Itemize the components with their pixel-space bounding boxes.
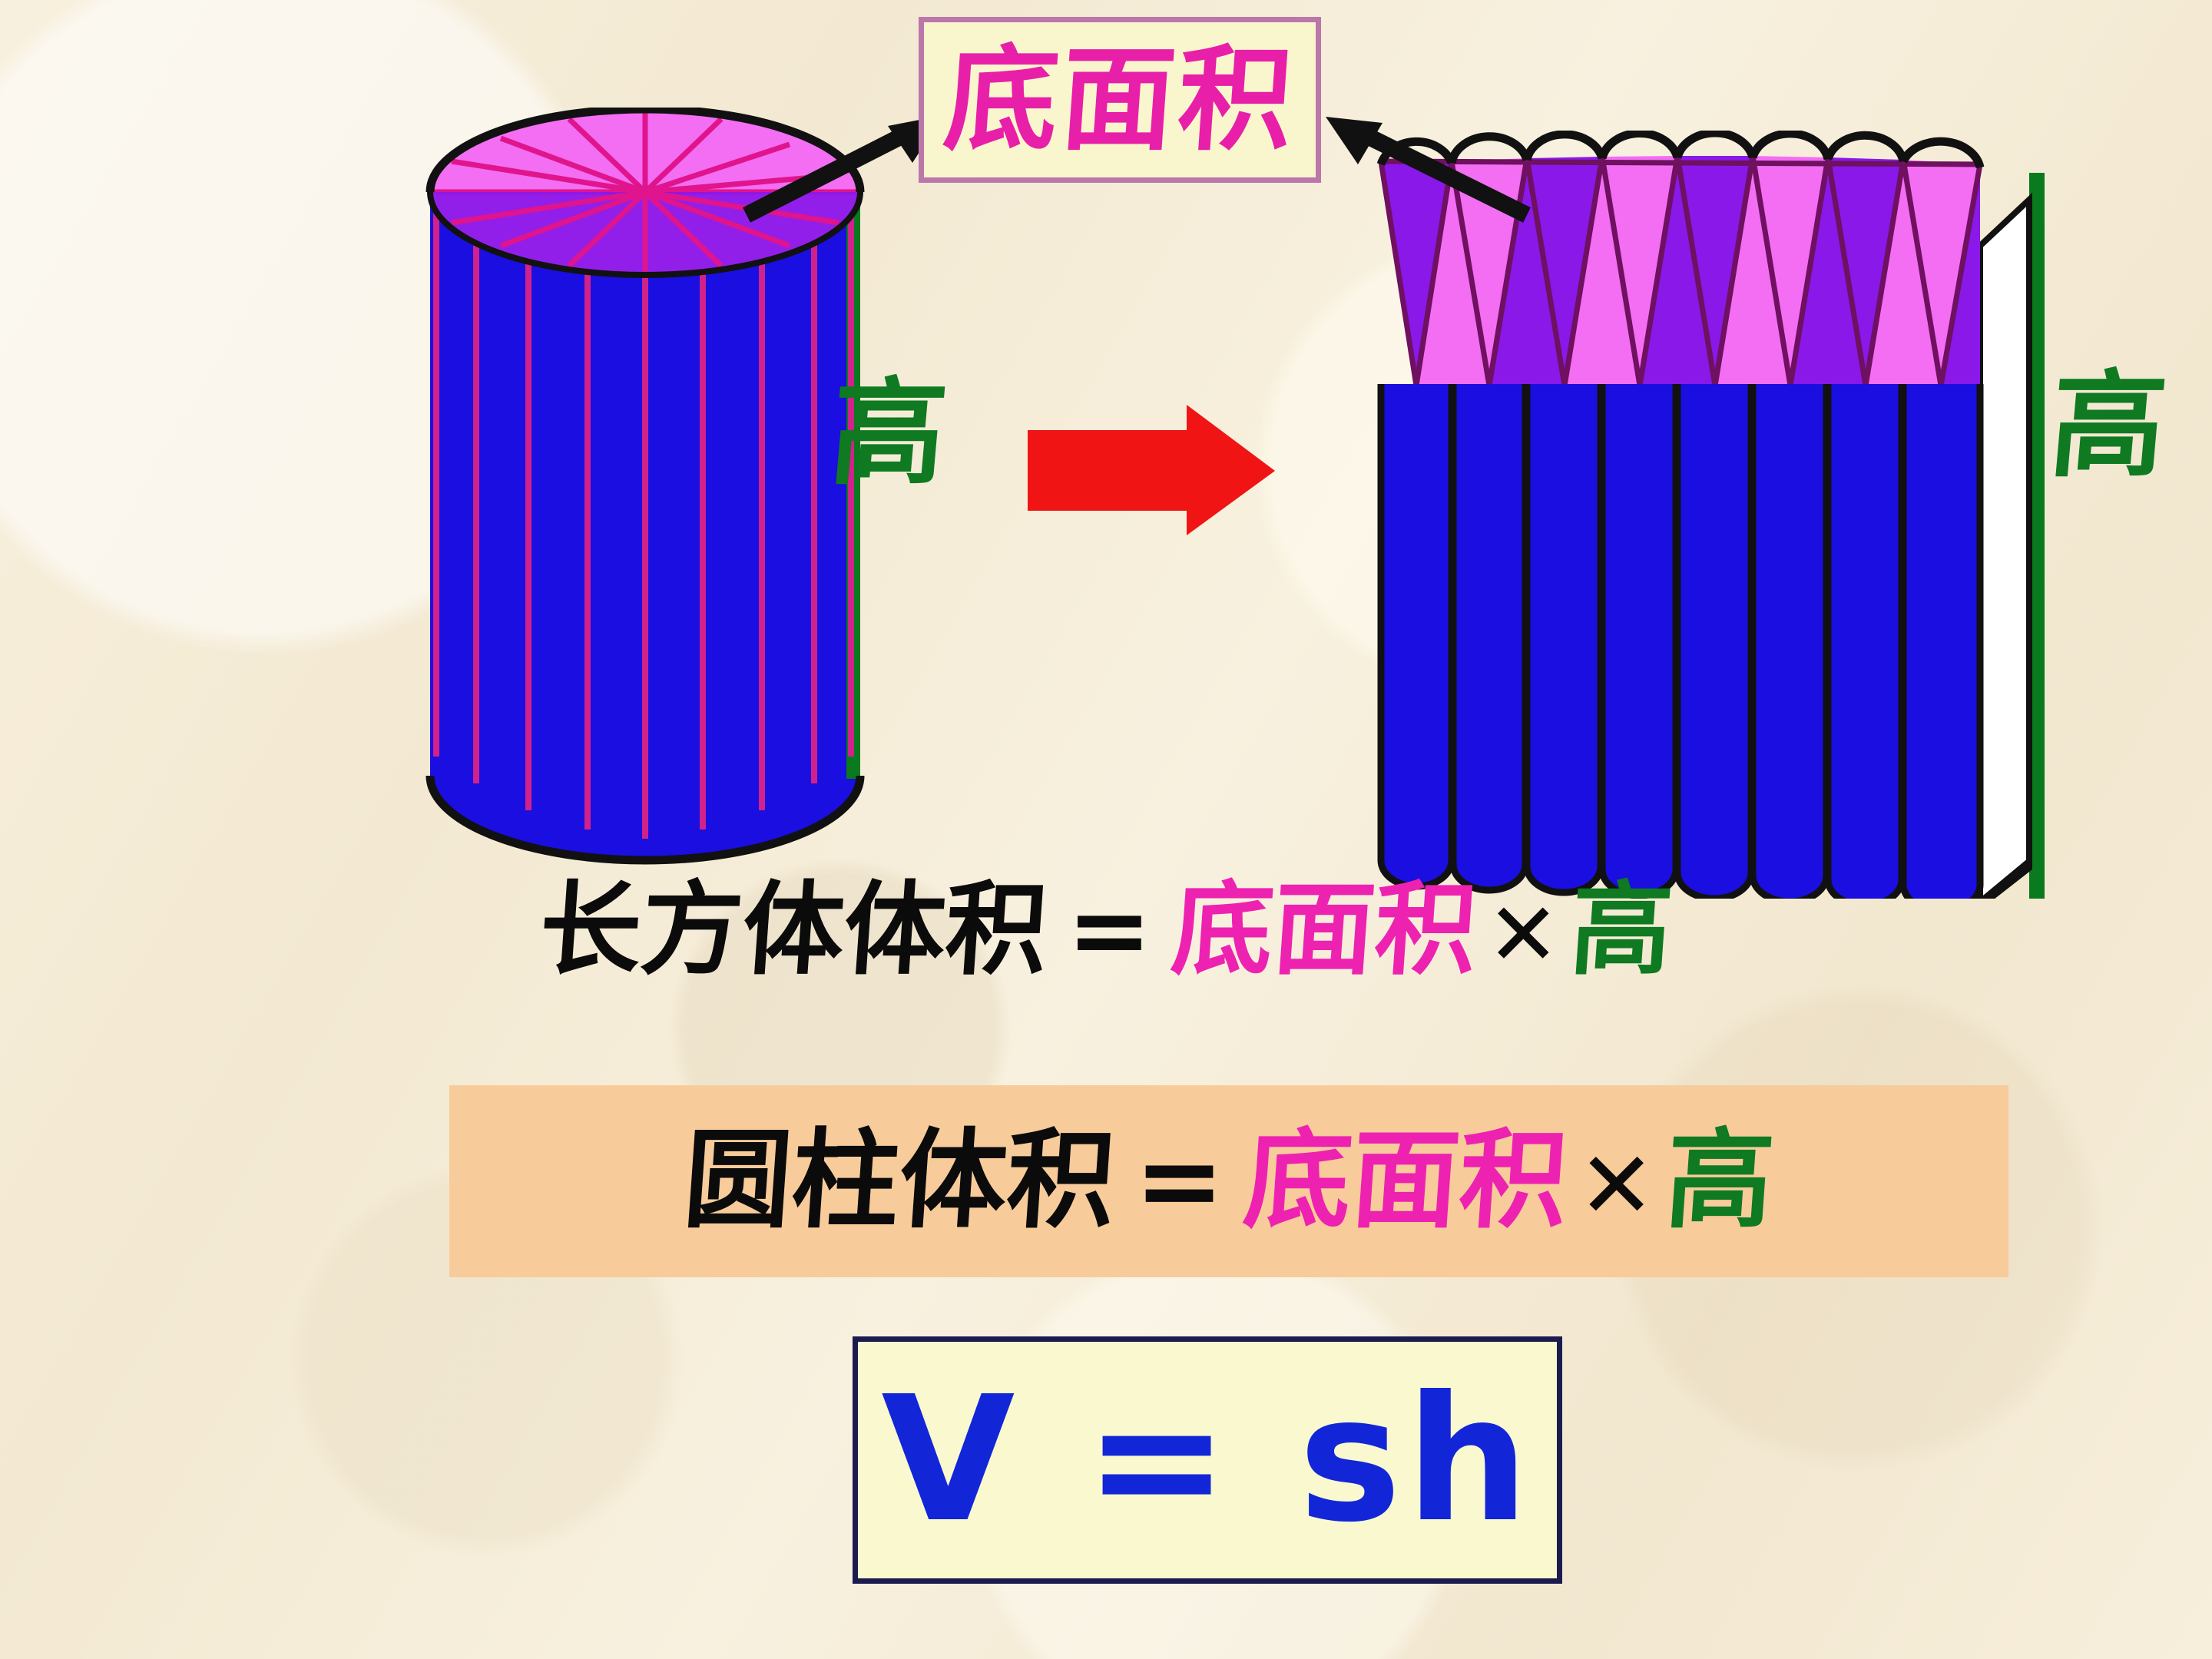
formula-cylinder-height: 高 [1662, 1128, 1777, 1235]
formula-prism-height: 高 [1567, 879, 1675, 981]
volume-formula-text: V = sh [881, 1374, 1533, 1547]
formula-cylinder-subject: 圆柱体积 [680, 1128, 1118, 1235]
base-area-callout-label: 底面积 [941, 43, 1299, 157]
formula-prism-row: 长方体体积=底面积✕高 [0, 879, 2212, 981]
prism-figure [1367, 131, 2074, 899]
height-label-right: 高 [2045, 369, 2171, 484]
transform-arrow-icon [1022, 403, 1283, 541]
height-label-left: 高 [826, 376, 951, 492]
formula-cylinder-equals: = [1114, 1128, 1244, 1235]
formula-prism-times: ✕ [1476, 892, 1571, 979]
formula-cylinder-band: 圆柱体积=底面积✕高 [449, 1085, 2008, 1277]
base-area-callout-box: 底面积 [919, 17, 1321, 183]
formula-cylinder-row: 圆柱体积=底面积✕高 [684, 1128, 1773, 1235]
formula-prism-equals: = [1047, 879, 1172, 981]
formula-prism-subject: 长方体体积 [537, 879, 1051, 981]
formula-cylinder-times: ✕ [1567, 1140, 1666, 1232]
volume-formula-box: V = sh [853, 1336, 1562, 1584]
pointer-arrow-right-icon [1306, 84, 1536, 230]
formula-prism-base-area: 底面积 [1168, 879, 1479, 981]
formula-cylinder-base-area: 底面积 [1240, 1128, 1571, 1235]
slide-canvas: 底面积 高 高 长方体体积=底面积✕高 圆柱体积=底面积✕高 V = sh [0, 0, 2212, 1659]
